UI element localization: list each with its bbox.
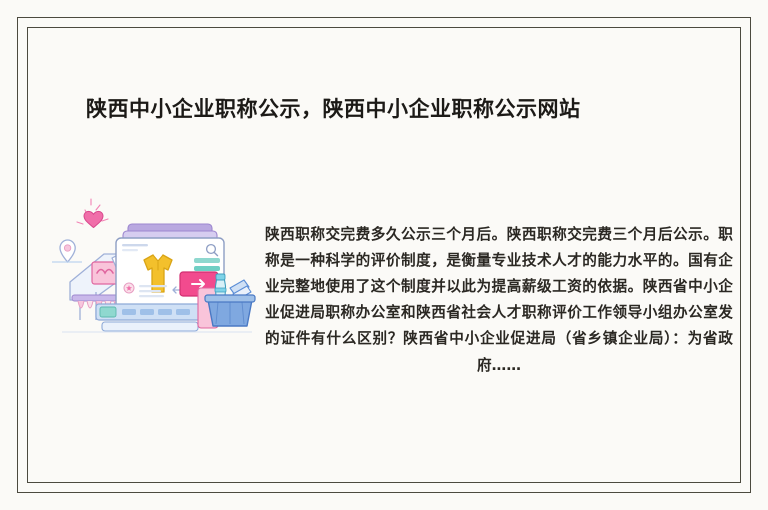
article-body: 陕西职称交完费多久公示三个月后。陕西职称交完费三个月后公示。职称是一种科学的评价… xyxy=(265,222,733,379)
online-shopping-illustration xyxy=(52,196,257,336)
location-pin-icon xyxy=(60,240,75,262)
heart-icon xyxy=(84,211,103,227)
card-strip-teal xyxy=(194,258,220,263)
page-title: 陕西中小企业职称公示，陕西中小企业职称公示网站 xyxy=(86,93,581,123)
document-page: 陕西中小企业职称公示，陕西中小企业职称公示网站 xyxy=(0,0,768,510)
toolbar-strip xyxy=(96,304,202,331)
card-strip-teal2 xyxy=(194,266,220,271)
card-badge xyxy=(124,283,134,293)
